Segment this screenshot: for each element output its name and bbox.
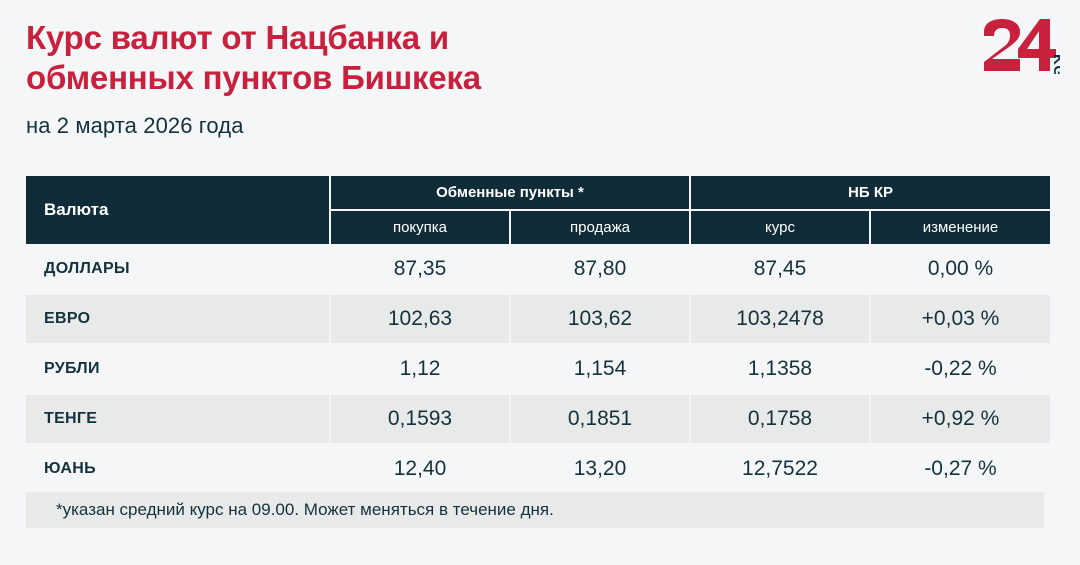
header-change: изменение — [870, 210, 1050, 244]
cell-change: -0,22 % — [870, 344, 1050, 394]
cell-currency: РУБЛИ — [26, 344, 330, 394]
cell-sell: 87,80 — [510, 244, 690, 294]
header-rate: курс — [690, 210, 870, 244]
header-currency: Валюта — [26, 176, 330, 244]
cell-rate: 103,2478 — [690, 294, 870, 344]
cell-currency: ТЕНГЕ — [26, 394, 330, 444]
cell-sell: 1,154 — [510, 344, 690, 394]
header: Курс валют от Нацбанка и обменных пункто… — [26, 18, 726, 139]
header-sell: продажа — [510, 210, 690, 244]
table-head: Валюта Обменные пункты * НБ КР покупка п… — [26, 176, 1050, 244]
table-row: ЕВРО 102,63 103,62 103,2478 +0,03 % — [26, 294, 1050, 344]
cell-buy: 87,35 — [330, 244, 510, 294]
footnote: *указан средний курс на 09.00. Может мен… — [26, 492, 1044, 528]
header-group-nbkr: НБ КР — [690, 176, 1050, 210]
header-buy: покупка — [330, 210, 510, 244]
cell-buy: 102,63 — [330, 294, 510, 344]
cell-change: 0,00 % — [870, 244, 1050, 294]
table-row: РУБЛИ 1,12 1,154 1,1358 -0,22 % — [26, 344, 1050, 394]
cell-currency: ЮАНЬ — [26, 444, 330, 494]
cell-rate: 0,1758 — [690, 394, 870, 444]
cell-currency: ЕВРО — [26, 294, 330, 344]
cell-sell: 103,62 — [510, 294, 690, 344]
table-row: ТЕНГЕ 0,1593 0,1851 0,1758 +0,92 % — [26, 394, 1050, 444]
header-group-exchange-points: Обменные пункты * — [330, 176, 690, 210]
table-header-group-row: Валюта Обменные пункты * НБ КР — [26, 176, 1050, 210]
cell-buy: 0,1593 — [330, 394, 510, 444]
cell-sell: 0,1851 — [510, 394, 690, 444]
24kg-logo[interactable]: KG — [982, 18, 1060, 74]
cell-rate: 1,1358 — [690, 344, 870, 394]
logo-icon: KG — [982, 18, 1060, 74]
cell-buy: 12,40 — [330, 444, 510, 494]
page-title: Курс валют от Нацбанка и обменных пункто… — [26, 18, 726, 99]
cell-rate: 12,7522 — [690, 444, 870, 494]
currency-rates-infographic: Курс валют от Нацбанка и обменных пункто… — [0, 0, 1080, 565]
cell-currency: ДОЛЛАРЫ — [26, 244, 330, 294]
cell-change: -0,27 % — [870, 444, 1050, 494]
cell-change: +0,92 % — [870, 394, 1050, 444]
page-subtitle: на 2 марта 2026 года — [26, 113, 726, 139]
cell-rate: 87,45 — [690, 244, 870, 294]
table-body: ДОЛЛАРЫ 87,35 87,80 87,45 0,00 % ЕВРО 10… — [26, 244, 1050, 494]
footnote-text: *указан средний курс на 09.00. Может мен… — [56, 500, 554, 520]
cell-sell: 13,20 — [510, 444, 690, 494]
svg-text:KG: KG — [1050, 54, 1060, 74]
table-row: ЮАНЬ 12,40 13,20 12,7522 -0,27 % — [26, 444, 1050, 494]
cell-change: +0,03 % — [870, 294, 1050, 344]
exchange-rates-table: Валюта Обменные пункты * НБ КР покупка п… — [26, 176, 1050, 495]
table-row: ДОЛЛАРЫ 87,35 87,80 87,45 0,00 % — [26, 244, 1050, 294]
cell-buy: 1,12 — [330, 344, 510, 394]
